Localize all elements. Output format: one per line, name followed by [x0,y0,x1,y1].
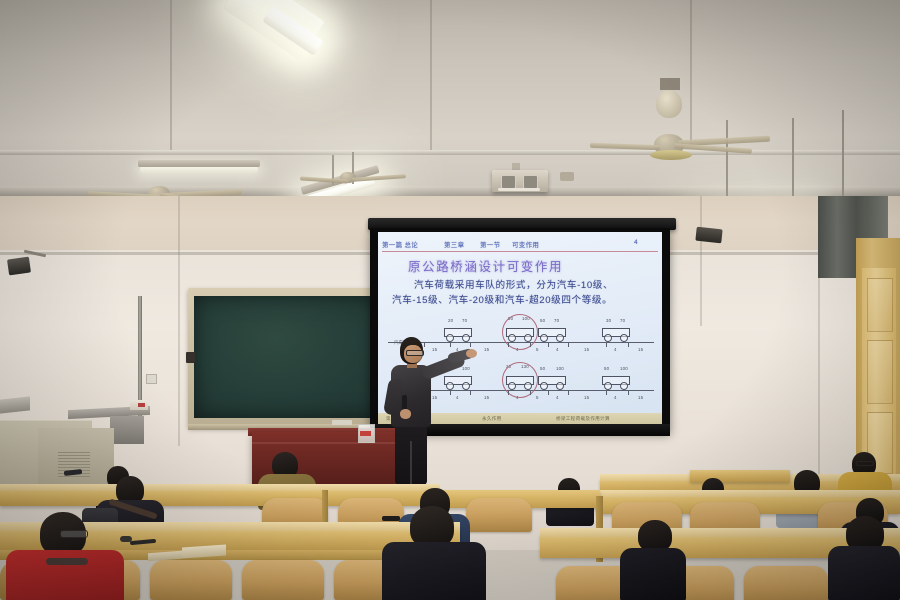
eyeglasses [406,350,424,356]
bench-seat[interactable] [744,566,828,600]
wall-conduit [138,296,142,416]
slide-header-rule [382,251,658,252]
ceiling-projector [492,170,548,192]
slide-header-chapter: 第三章 [444,239,464,249]
slide-header-section: 第一节 [480,239,500,249]
ceiling-mount-bracket [560,172,574,181]
shelf-item-label [138,403,145,407]
screen-clip [664,320,669,329]
screen-clip [664,262,669,271]
shelf-cabinet [110,416,144,444]
slide-body: 汽车荷载采用车队的形式，分为汽车-10级、 汽车-15级、汽车-20级和汽车-超… [392,278,654,308]
wall-seam [178,196,180,446]
blackboard [194,296,390,418]
student-mid-right-front [620,520,686,600]
eyeglasses [60,530,88,538]
slide-header-topic: 可变作用 [512,239,539,249]
wall-seam [818,270,820,490]
ceiling-seam [170,0,172,152]
slide-footer-right: 桥梁工程荷载及作用计算 [556,416,610,422]
bench-seat[interactable] [150,560,232,600]
screen-clip [372,320,377,329]
wall-switch-box[interactable] [186,352,195,363]
wall-speaker [7,257,31,276]
ceiling-seam [430,0,432,150]
student-center-front [382,506,486,600]
slide-page-number: 4 [634,239,638,246]
light-fixture-body [138,160,260,167]
screen-clip [664,378,669,387]
wall-speaker [695,227,722,244]
cup-label [360,431,371,436]
lecturer-leg-split [410,441,412,485]
student-front-right [828,516,900,600]
lecturer-left-hand [400,409,411,419]
slide-header-part: 第一篇 总论 [382,239,418,249]
bench-seat[interactable] [242,560,324,600]
student-front-left [6,512,124,600]
lecturer-right-hand [466,349,477,358]
eyeglasses [856,461,874,466]
classroom-photo: 第一篇 总论 第三章 第一节 可变作用 4 原公路桥涵设计可变作用 汽车荷载采用… [0,0,900,600]
slide-body-line-2: 汽车-15级、汽车-20级和汽车-超20级四个等级。 [392,295,612,306]
slide-body-line-1: 汽车荷载采用车队的形式，分为汽车-10级、 [414,280,613,291]
lecturer [378,337,474,485]
ceiling-fan [318,160,418,194]
chalkboard-eraser [332,420,352,425]
desk-top [596,490,900,497]
slide-footer-center: 永久作用 [482,416,502,422]
screen-clip [372,378,377,387]
desk-top [0,484,440,491]
wall-seam [700,196,702,326]
hood-collar [46,558,88,565]
screen-clip [372,262,377,271]
ceiling-fan [612,90,792,158]
slide-title: 原公路桥涵设计可变作用 [408,256,638,275]
slide-header: 第一篇 总论 第三章 第一节 可变作用 4 [382,237,658,250]
power-socket[interactable] [146,374,157,384]
